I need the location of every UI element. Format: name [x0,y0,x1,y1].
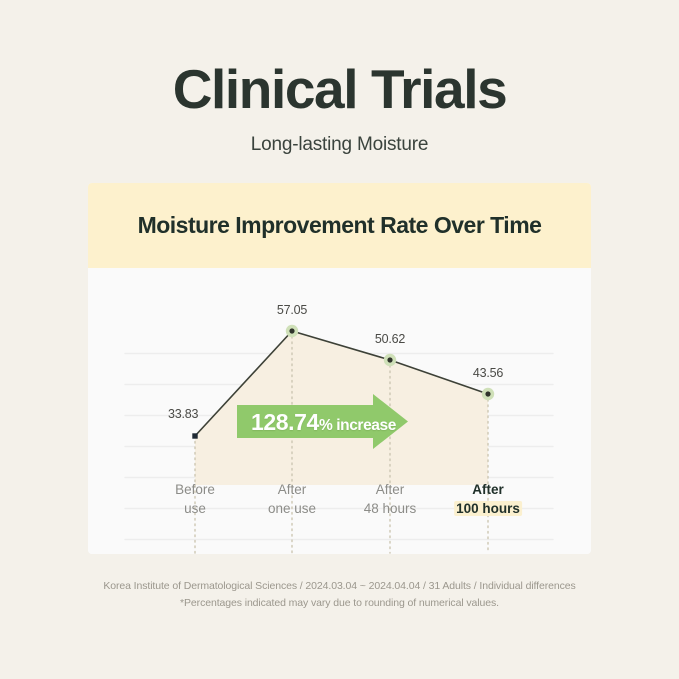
x-axis-label-3-highlight: 100 hours [454,501,522,516]
moisture-line-chart: 33.83 57.05 50.62 43.56 128.74% increase… [88,268,591,554]
value-label-1: 57.05 [277,303,307,317]
x-axis-label-1: After one use [268,480,316,518]
card-body: 33.83 57.05 50.62 43.56 128.74% increase… [88,268,591,554]
x-axis-label-2-line1: After [364,480,417,499]
footnotes: Korea Institute of Dermatological Scienc… [0,578,679,612]
page-subtitle: Long-lasting Moisture [0,134,679,156]
value-label-2: 50.62 [375,332,405,346]
x-axis-label-1-line2: one use [268,499,316,518]
x-axis-label-2: After 48 hours [364,480,417,518]
page-title: Clinical Trials [0,58,679,122]
x-axis-label-3-line2: 100 hours [454,499,522,518]
x-axis-label-3-line1: After [454,480,522,499]
value-label-3: 43.56 [473,366,503,380]
footnote-disclaimer: *Percentages indicated may vary due to r… [0,595,679,612]
increase-callout: 128.74% increase [251,409,396,436]
increase-value: 128.74 [251,409,319,435]
x-axis-label-0-line1: Before [175,480,215,499]
x-axis-label-0-line2: use [175,499,215,518]
card-header: Moisture Improvement Rate Over Time [88,183,591,268]
screenshot-root: Clinical Trials Long-lasting Moisture Mo… [0,0,679,679]
x-axis-label-3: After 100 hours [454,480,522,518]
x-axis-label-1-line1: After [268,480,316,499]
card-header-title: Moisture Improvement Rate Over Time [138,212,542,239]
increase-unit: % increase [319,417,396,434]
clinical-trial-card: Moisture Improvement Rate Over Time [88,183,591,554]
footnote-source: Korea Institute of Dermatological Scienc… [0,578,679,595]
value-label-0: 33.83 [168,407,198,421]
x-axis-label-0: Before use [175,480,215,518]
chart-x-axis: Before use After one use After 48 hours … [88,478,591,548]
x-axis-label-2-line2: 48 hours [364,499,417,518]
